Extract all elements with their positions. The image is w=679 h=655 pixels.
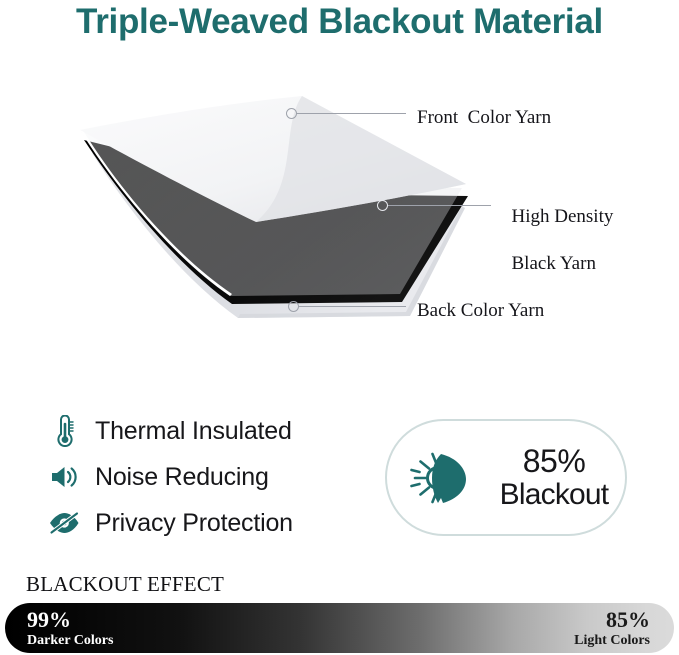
badge-percent: 85%	[491, 444, 617, 479]
feature-list: Thermal Insulated Noise Reducing Privacy…	[44, 408, 374, 546]
callout-line-middle	[388, 205, 491, 206]
feature-label-privacy-protection: Privacy Protection	[95, 509, 293, 538]
callout-middle-line1: High Density	[512, 206, 614, 227]
callout-line-back	[298, 306, 406, 307]
badge-word: Blackout	[491, 479, 617, 511]
blackout-effect-gradient-bar: 99% Darker Colors 85% Light Colors	[5, 603, 674, 653]
feature-noise-reducing: Noise Reducing	[44, 454, 374, 500]
page-title: Triple-Weaved Blackout Material	[0, 2, 679, 42]
callout-label-back-color-yarn: Back Color Yarn	[417, 299, 544, 323]
feature-privacy-protection: Privacy Protection	[44, 500, 374, 546]
callout-line-front	[296, 113, 406, 114]
speaker-volume-icon	[44, 459, 84, 495]
darker-colors-caption: Darker Colors	[27, 633, 113, 648]
darker-colors-percent: 99%	[27, 608, 113, 633]
feature-thermal-insulated: Thermal Insulated	[44, 408, 374, 454]
callout-dot-back	[288, 301, 299, 312]
callout-middle-line2: Black Yarn	[512, 253, 596, 274]
feature-label-thermal-insulated: Thermal Insulated	[95, 417, 292, 446]
callout-dot-front	[286, 108, 297, 119]
blackout-effect-heading: BLACKOUT EFFECT	[26, 572, 224, 597]
callout-label-high-density-black-yarn: High Density Black Yarn	[502, 181, 613, 276]
callout-label-front-color-yarn: Front Color Yarn	[417, 106, 551, 130]
front-color-yarn-layer	[80, 96, 466, 296]
callout-dot-middle	[377, 200, 388, 211]
thermometer-icon	[44, 413, 84, 449]
badge-text: 85% Blackout	[491, 444, 625, 511]
gradient-bar-left-value: 99% Darker Colors	[27, 608, 113, 648]
blackout-badge: 85% Blackout	[385, 419, 627, 536]
gradient-bar-right-value: 85% Light Colors	[574, 608, 650, 648]
light-colors-caption: Light Colors	[574, 633, 650, 648]
eye-slash-icon	[44, 505, 84, 541]
feature-label-noise-reducing: Noise Reducing	[95, 463, 269, 492]
sun-blocked-by-curtain-icon	[387, 445, 491, 511]
light-colors-percent: 85%	[574, 608, 650, 633]
